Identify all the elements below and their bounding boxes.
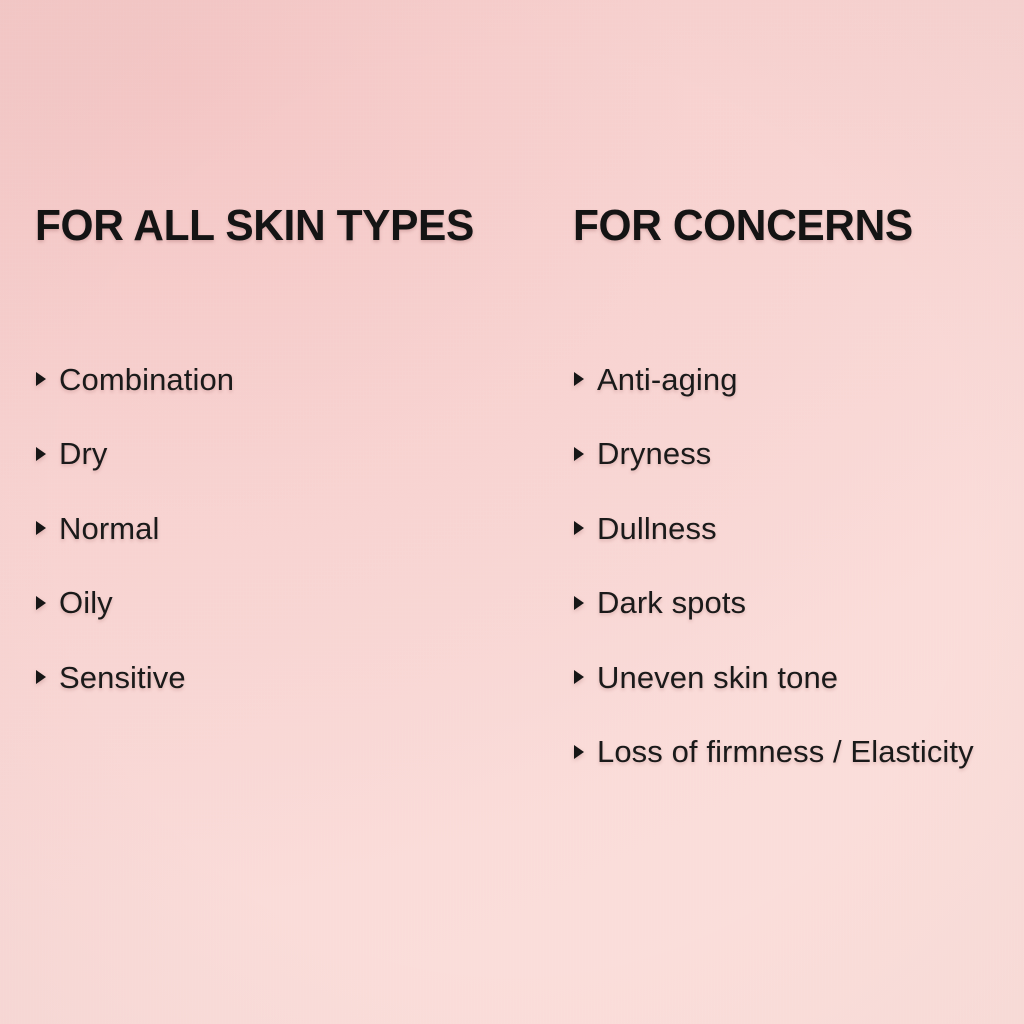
triangle-right-icon [574,596,584,610]
poster-canvas: FOR ALL SKIN TYPES Combination Dry Norma… [0,0,1024,1024]
triangle-right-icon [36,596,46,610]
list-item[interactable]: Uneven skin tone [573,640,974,715]
list-item-label: Sensitive [59,662,186,693]
triangle-right-icon [36,447,46,461]
triangle-right-icon [36,521,46,535]
list-skin-types: Combination Dry Normal Oily Sensitive [35,342,234,715]
heading-concerns: FOR CONCERNS [573,204,913,248]
list-item-label: Combination [59,364,234,395]
list-item[interactable]: Anti-aging [573,342,974,417]
list-item-label: Dry [59,438,108,469]
list-item[interactable]: Combination [35,342,234,417]
triangle-right-icon [574,521,584,535]
list-item[interactable]: Dullness [573,491,974,566]
list-item[interactable]: Dry [35,417,234,492]
triangle-right-icon [574,670,584,684]
list-item-label: Anti-aging [597,364,738,395]
triangle-right-icon [36,670,46,684]
triangle-right-icon [36,372,46,386]
list-item[interactable]: Oily [35,566,234,641]
list-item-label: Dryness [597,438,711,469]
list-item-label: Oily [59,587,113,618]
list-concerns: Anti-aging Dryness Dullness Dark spots U… [573,342,974,789]
list-item-label: Dark spots [597,587,746,618]
list-item[interactable]: Loss of firmness / Elasticity [573,715,974,790]
list-item[interactable]: Dark spots [573,566,974,641]
list-item-label: Loss of firmness / Elasticity [597,736,974,767]
list-item-label: Uneven skin tone [597,662,838,693]
list-item-label: Normal [59,513,160,544]
heading-skin-types: FOR ALL SKIN TYPES [35,204,474,248]
triangle-right-icon [574,372,584,386]
list-item[interactable]: Dryness [573,417,974,492]
list-item[interactable]: Sensitive [35,640,234,715]
list-item-label: Dullness [597,513,717,544]
list-item[interactable]: Normal [35,491,234,566]
triangle-right-icon [574,745,584,759]
triangle-right-icon [574,447,584,461]
